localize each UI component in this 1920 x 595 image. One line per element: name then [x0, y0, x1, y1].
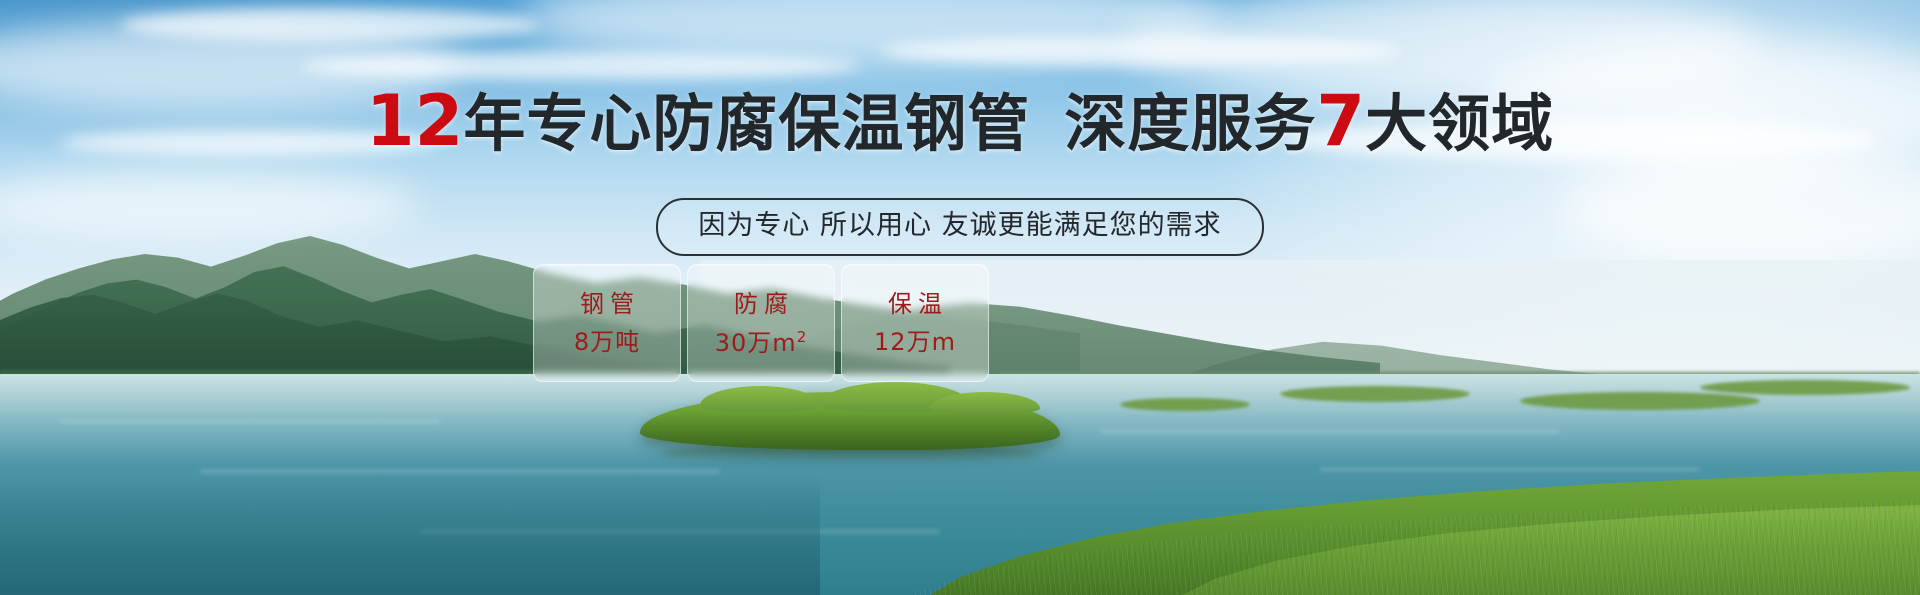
water-ripple [60, 420, 440, 423]
stat-card-label: 防腐 [728, 292, 794, 316]
water-ripple [200, 470, 720, 473]
water-deep-shadow [0, 475, 820, 595]
marsh-patch [1280, 386, 1470, 402]
stat-card-label: 保温 [882, 292, 948, 316]
headline-years-number: 12 [366, 80, 463, 162]
stat-card-value: 8万吨 [574, 330, 640, 354]
headline-fields-number: 7 [1316, 80, 1365, 162]
stat-card-value-exponent: 2 [797, 328, 808, 346]
headline-main-text: 年专心防腐保温钢管 [463, 87, 1030, 160]
stat-card-steel-pipe: 钢管 8万吨 [533, 264, 681, 382]
marsh-patch [1700, 380, 1910, 395]
banner-subtitle: 因为专心 所以用心 友诚更能满足您的需求 [656, 198, 1263, 256]
banner-headline: 12年专心防腐保温钢管深度服务7大领域 [0, 86, 1920, 156]
marsh-patch [1120, 398, 1250, 411]
stat-card-group: 钢管 8万吨 防腐 30万m2 保温 12万m [533, 264, 989, 382]
stat-card-insulation: 保温 12万m [841, 264, 989, 382]
stat-card-value-text: 30万m [715, 329, 797, 357]
headline-service-text: 深度服务 [1064, 87, 1316, 160]
stat-card-value: 12万m [874, 330, 956, 354]
banner-subtitle-wrap: 因为专心 所以用心 友诚更能满足您的需求 [0, 198, 1920, 256]
promo-banner: 12年专心防腐保温钢管深度服务7大领域 因为专心 所以用心 友诚更能满足您的需求… [0, 0, 1920, 595]
marsh-patch [1520, 392, 1760, 410]
headline-fields-text: 大领域 [1365, 87, 1554, 160]
water-ripple [1320, 468, 1700, 471]
stat-card-value-text: 12万m [874, 328, 956, 356]
stat-card-label: 钢管 [574, 292, 640, 316]
stat-card-anticorrosion: 防腐 30万m2 [687, 264, 835, 382]
cloud-shape [120, 8, 540, 42]
stat-card-value: 30万m2 [715, 330, 807, 355]
water-ripple [1100, 430, 1560, 433]
stat-card-value-text: 8万吨 [574, 328, 640, 356]
